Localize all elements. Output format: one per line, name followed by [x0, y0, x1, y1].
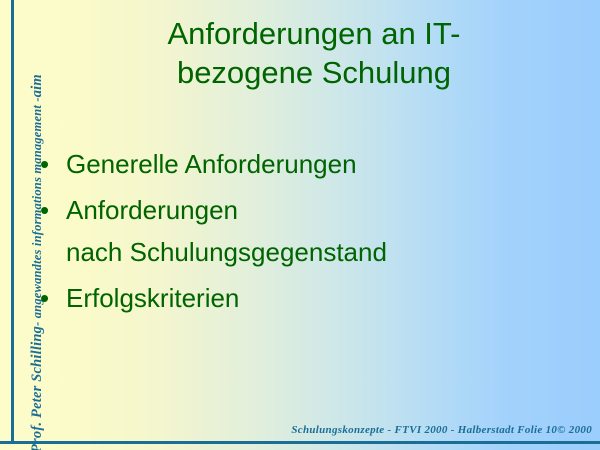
horizontal-divider-rule	[0, 441, 600, 444]
presentation-slide: Prof. Peter Schilling - angewandtes info…	[0, 0, 600, 450]
side-caption-unit: aim	[29, 74, 46, 97]
slide-bullet-list: • Generelle Anforderungen • Anforderunge…	[40, 143, 540, 323]
list-item-label: Generelle Anforderungen	[66, 143, 540, 185]
slide-title: Anforderungen an IT- bezogene Schulung	[104, 14, 524, 92]
list-item-label: Anforderungen nach Schulungsgegenstand	[66, 189, 540, 273]
vertical-divider-rule	[11, 0, 14, 443]
slide-footer: Schulungskonzepte - FTVI 2000 - Halberst…	[0, 424, 592, 436]
slide-title-line-1: Anforderungen an IT-	[104, 14, 524, 53]
bullet-marker-icon: •	[40, 277, 66, 319]
slide-title-line-2: bezogene Schulung	[104, 53, 524, 92]
list-item-label-line-2: nach Schulungsgegenstand	[66, 231, 540, 273]
bullet-marker-icon: •	[40, 143, 66, 185]
list-item-label: Erfolgskriterien	[66, 277, 540, 319]
list-item: • Anforderungen nach Schulungsgegenstand	[40, 189, 540, 273]
bullet-marker-icon: •	[40, 189, 66, 231]
list-item-label-line-1: Anforderungen	[66, 189, 540, 231]
list-item: • Generelle Anforderungen	[40, 143, 540, 185]
list-item: • Erfolgskriterien	[40, 277, 540, 319]
